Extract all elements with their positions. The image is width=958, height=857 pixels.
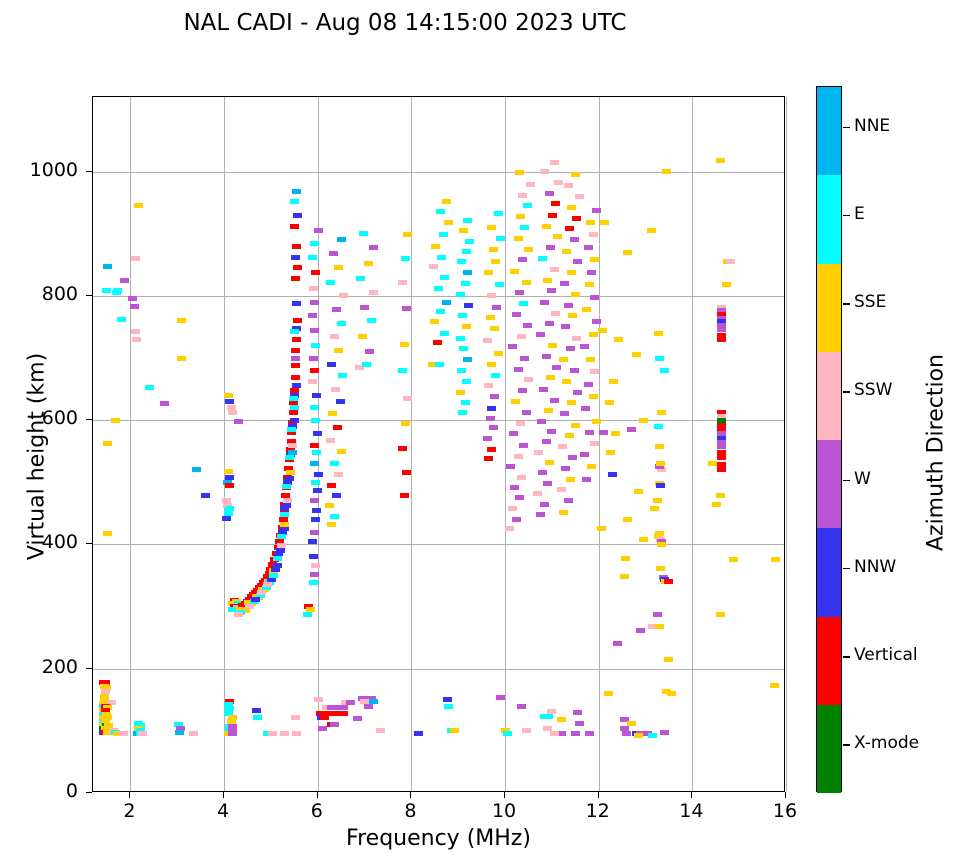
echo-point	[459, 346, 468, 351]
echo-point	[582, 477, 591, 482]
echo-point	[512, 312, 521, 317]
echo-point	[496, 695, 505, 700]
echo-point	[570, 368, 579, 373]
echo-point	[726, 259, 735, 264]
echo-point	[546, 375, 555, 380]
echo-point	[276, 548, 285, 553]
echo-point	[273, 563, 282, 568]
echo-point	[282, 503, 291, 508]
echo-point	[520, 356, 529, 361]
echo-point	[655, 444, 664, 449]
echo-point	[558, 444, 567, 449]
echo-point	[224, 393, 233, 398]
echo-point	[462, 324, 471, 329]
x-axis-tick	[223, 792, 224, 798]
colorbar-label-ssw: SSW	[854, 380, 892, 400]
x-axis-tick-label: 8	[380, 800, 440, 822]
x-axis-tick-label: 6	[287, 800, 347, 822]
echo-point	[291, 715, 300, 720]
echo-point	[318, 726, 327, 731]
echo-point	[346, 700, 355, 705]
echo-point	[228, 731, 237, 736]
echo-point	[544, 408, 553, 413]
echo-point	[312, 450, 321, 455]
echo-point	[634, 489, 643, 494]
echo-point	[440, 275, 449, 280]
echo-point	[309, 580, 318, 585]
echo-point	[655, 531, 664, 536]
echo-point	[224, 469, 233, 474]
echo-point	[510, 485, 519, 490]
echo-point	[308, 379, 317, 384]
echo-point	[524, 247, 533, 252]
echo-point	[487, 406, 496, 411]
echo-point	[548, 343, 557, 348]
echo-point	[551, 201, 560, 206]
colorbar-segment-e[interactable]	[817, 175, 841, 263]
echo-point	[496, 236, 505, 241]
echo-point	[327, 483, 336, 488]
echo-point	[605, 400, 614, 405]
x-axis-tick	[504, 792, 505, 798]
colorbar-segment-ssw[interactable]	[817, 352, 841, 440]
echo-point	[575, 194, 584, 199]
echo-point	[289, 410, 298, 415]
echo-point	[518, 388, 527, 393]
echo-point	[586, 220, 595, 225]
y-axis-tick	[86, 668, 92, 669]
echo-point	[518, 193, 527, 198]
echo-point	[608, 472, 617, 477]
echo-point	[483, 338, 492, 343]
echo-point	[514, 236, 523, 241]
echo-point	[489, 247, 498, 252]
echo-point	[536, 512, 545, 517]
echo-point	[729, 557, 738, 562]
echo-point	[280, 731, 289, 736]
echo-point	[310, 530, 319, 535]
echo-point	[508, 506, 517, 511]
echo-point	[442, 199, 451, 204]
echo-point	[457, 259, 466, 264]
echo-point	[522, 280, 531, 285]
echo-point	[514, 454, 523, 459]
echo-point	[590, 295, 599, 300]
echo-point	[430, 319, 439, 324]
echo-point	[456, 292, 465, 297]
echo-point	[503, 731, 512, 736]
echo-point	[291, 276, 300, 281]
echo-point	[310, 300, 319, 305]
echo-point	[369, 290, 378, 295]
echo-point	[511, 399, 520, 404]
echo-point	[590, 369, 599, 374]
echo-point	[138, 731, 147, 736]
echo-point	[333, 425, 342, 430]
echo-point	[444, 704, 453, 709]
echo-point	[523, 203, 532, 208]
echo-point	[590, 257, 599, 262]
echo-point	[429, 264, 438, 269]
x-axis-tick-label: 4	[193, 800, 253, 822]
echo-point	[331, 387, 340, 392]
echo-point	[636, 628, 645, 633]
echo-point	[310, 443, 319, 448]
echo-point	[653, 498, 662, 503]
echo-point	[401, 421, 410, 426]
echo-point	[310, 405, 319, 410]
echo-point	[512, 517, 521, 522]
echo-point	[484, 270, 493, 275]
echo-point	[509, 431, 518, 436]
echo-point	[435, 362, 444, 367]
echo-point	[648, 733, 657, 738]
echo-point	[585, 731, 594, 736]
colorbar-segment-w[interactable]	[817, 440, 841, 528]
echo-point	[567, 205, 576, 210]
echo-point	[487, 447, 496, 452]
echo-point	[311, 517, 320, 522]
echo-point	[440, 331, 449, 336]
echo-point	[717, 327, 726, 332]
echo-point	[330, 514, 339, 519]
echo-point	[548, 213, 557, 218]
echo-point	[533, 491, 542, 496]
echo-point	[517, 475, 526, 480]
echo-point	[291, 348, 300, 353]
echo-point	[309, 286, 318, 291]
colorbar-label-w: W	[854, 469, 871, 489]
echo-point	[145, 385, 154, 390]
echo-point	[282, 484, 291, 489]
echo-point	[450, 728, 459, 733]
echo-point	[280, 526, 289, 531]
echo-point	[456, 390, 465, 395]
echo-point	[716, 612, 725, 617]
colorbar-segment-x-mode[interactable]	[817, 705, 841, 793]
echo-point	[572, 336, 581, 341]
echo-point	[519, 301, 528, 306]
echo-point	[461, 281, 470, 286]
echo-point	[311, 418, 320, 423]
ionogram-plot-area[interactable]	[92, 96, 785, 792]
y-axis-tick	[86, 419, 92, 420]
echo-point	[134, 203, 143, 208]
echo-point	[667, 691, 676, 696]
echo-point	[771, 557, 780, 562]
echo-point	[516, 421, 525, 426]
echo-point	[590, 441, 599, 446]
echo-point	[277, 543, 286, 548]
echo-point	[717, 455, 726, 460]
echo-point	[561, 324, 570, 329]
echo-point	[402, 306, 411, 311]
echo-point	[311, 563, 320, 568]
echo-point	[398, 446, 407, 451]
echo-point	[439, 232, 448, 237]
echo-point	[225, 483, 234, 488]
echo-point	[314, 228, 323, 233]
colorbar-title: Azimuth Direction	[924, 303, 949, 603]
echo-point	[550, 267, 559, 272]
echo-point	[437, 255, 446, 260]
echo-point	[290, 405, 299, 410]
echo-point	[433, 340, 442, 345]
echo-point	[506, 464, 515, 469]
colorbar-tick	[843, 744, 850, 746]
echo-point	[160, 401, 169, 406]
echo-point	[436, 209, 445, 214]
echo-point	[484, 383, 493, 388]
echo-point	[398, 368, 407, 373]
echo-point	[443, 697, 452, 702]
y-axis-tick	[86, 543, 92, 544]
echo-point	[286, 470, 295, 475]
echo-point	[337, 321, 346, 326]
echo-point	[356, 276, 365, 281]
colorbar-label-vertical: Vertical	[854, 645, 918, 665]
echo-point	[508, 344, 517, 349]
echo-point	[494, 211, 503, 216]
echo-point	[660, 368, 669, 373]
azimuth-colorbar[interactable]	[816, 86, 842, 792]
echo-point	[103, 531, 112, 536]
echo-point	[654, 331, 663, 336]
echo-point	[252, 708, 261, 713]
x-axis-tick	[691, 792, 692, 798]
echo-point	[103, 264, 112, 269]
echo-point	[461, 400, 470, 405]
echo-point	[524, 377, 533, 382]
echo-point	[457, 368, 466, 373]
echo-point	[487, 293, 496, 298]
echo-point	[516, 214, 525, 219]
echo-point	[567, 400, 576, 405]
colorbar-tick	[843, 656, 850, 658]
x-axis-tick	[129, 792, 130, 798]
echo-point	[657, 542, 666, 547]
echo-point	[339, 293, 348, 298]
echo-point	[326, 438, 335, 443]
echo-point	[543, 481, 552, 486]
echo-point	[550, 398, 559, 403]
echo-point	[398, 280, 407, 285]
echo-point	[464, 303, 473, 308]
echo-point	[656, 566, 665, 571]
echo-point	[325, 503, 334, 508]
echo-point	[330, 722, 339, 727]
echo-point	[606, 450, 615, 455]
echo-point	[538, 470, 547, 475]
echo-point	[770, 683, 779, 688]
echo-point	[292, 337, 301, 342]
echo-point	[334, 472, 343, 477]
echo-point	[542, 354, 551, 359]
echo-point	[311, 343, 320, 348]
echo-point	[564, 498, 573, 503]
echo-point	[515, 170, 524, 175]
echo-point	[557, 487, 566, 492]
echo-point	[613, 641, 622, 646]
colorbar-label-nne: NNE	[854, 116, 890, 136]
echo-point	[564, 183, 573, 188]
echo-point	[550, 731, 559, 736]
echo-point	[483, 436, 492, 441]
x-axis-tick	[410, 792, 411, 798]
echo-point	[293, 318, 302, 323]
echo-point	[291, 255, 300, 260]
echo-point	[332, 493, 341, 498]
echo-point	[444, 220, 453, 225]
echo-point	[647, 228, 656, 233]
echo-point	[308, 539, 317, 544]
echo-point	[177, 356, 186, 361]
echo-point	[442, 300, 451, 305]
x-axis-tick	[317, 792, 318, 798]
echo-point	[622, 731, 631, 736]
echo-point	[515, 290, 524, 295]
echo-point	[716, 493, 725, 498]
echo-point	[103, 441, 112, 446]
echo-point	[544, 714, 553, 719]
echo-point	[522, 410, 531, 415]
echo-point	[401, 256, 410, 261]
echo-point	[131, 329, 140, 334]
echo-point	[542, 224, 551, 229]
echo-point	[465, 239, 474, 244]
echo-point	[639, 537, 648, 542]
echo-point	[650, 506, 659, 511]
echo-point	[546, 245, 555, 250]
echo-point	[273, 556, 282, 561]
echo-point	[551, 311, 560, 316]
colorbar-tick	[843, 215, 850, 217]
echo-point	[291, 363, 300, 368]
echo-point	[310, 328, 319, 333]
echo-point	[320, 715, 329, 720]
echo-point	[269, 573, 278, 578]
echo-point	[540, 169, 549, 174]
echo-point	[621, 556, 630, 561]
echo-point	[463, 218, 472, 223]
echo-point	[314, 472, 323, 477]
echo-point	[403, 232, 412, 237]
echo-point	[130, 304, 139, 309]
echo-point	[575, 721, 584, 726]
echo-point	[580, 452, 589, 457]
echo-point	[655, 624, 664, 629]
echo-point	[486, 315, 495, 320]
echo-point	[540, 300, 549, 305]
y-axis-tick-label: 0	[8, 780, 78, 802]
echo-point	[623, 250, 632, 255]
echo-point	[567, 270, 576, 275]
colorbar-tick	[843, 391, 850, 393]
echo-point	[517, 704, 526, 709]
echo-point	[459, 228, 468, 233]
echo-point	[234, 419, 243, 424]
echo-point	[458, 410, 467, 415]
echo-point	[564, 303, 573, 308]
echo-point	[632, 352, 641, 357]
echo-point	[639, 418, 648, 423]
echo-point	[557, 717, 566, 722]
echo-point	[589, 394, 598, 399]
x-axis-tick-label: 16	[755, 800, 815, 822]
echo-point	[580, 344, 589, 349]
echo-point	[662, 169, 671, 174]
echo-point	[589, 232, 598, 237]
colorbar-segment-nne[interactable]	[817, 87, 841, 175]
colorbar-segment-vertical[interactable]	[817, 617, 841, 705]
echo-point	[463, 270, 472, 275]
echo-point	[620, 574, 629, 579]
echo-point	[462, 379, 471, 384]
echo-point	[367, 318, 376, 323]
colorbar-segment-nnw[interactable]	[817, 528, 841, 616]
echo-point	[251, 597, 260, 602]
echo-point	[328, 411, 337, 416]
echo-point	[330, 334, 339, 339]
echo-point	[519, 443, 528, 448]
echo-point	[568, 313, 577, 318]
echo-point	[523, 323, 532, 328]
echo-point	[285, 476, 294, 481]
echo-point	[293, 213, 302, 218]
echo-point	[462, 249, 471, 254]
x-axis-tick-label: 14	[661, 800, 721, 822]
echo-point	[257, 590, 266, 595]
echo-point	[517, 334, 526, 339]
echo-point	[598, 328, 607, 333]
echo-point	[245, 604, 254, 609]
echo-point	[491, 259, 500, 264]
echo-point	[560, 281, 569, 286]
echo-point	[487, 225, 496, 230]
echo-point	[534, 450, 543, 455]
echo-point	[609, 379, 618, 384]
echo-point	[536, 332, 545, 337]
echo-point	[364, 704, 373, 709]
echo-point	[542, 439, 551, 444]
echo-point	[553, 234, 562, 239]
echo-point	[490, 394, 499, 399]
echo-point	[587, 270, 596, 275]
echo-point	[526, 182, 535, 187]
echo-point	[327, 362, 336, 367]
echo-point	[287, 427, 296, 432]
echo-point	[308, 255, 317, 260]
echo-point	[337, 449, 346, 454]
echo-point	[599, 430, 608, 435]
echo-point	[280, 512, 289, 517]
echo-point	[353, 716, 362, 721]
echo-point	[263, 582, 272, 587]
echo-point	[708, 461, 717, 466]
echo-point	[312, 393, 321, 398]
echo-point	[634, 733, 643, 738]
echo-point	[403, 396, 412, 401]
echo-point	[518, 257, 527, 262]
echo-point	[600, 220, 609, 225]
echo-point	[119, 731, 128, 736]
echo-point	[192, 467, 201, 472]
echo-point	[222, 516, 231, 521]
echo-point	[585, 430, 594, 435]
echo-point	[292, 301, 301, 306]
echo-point	[582, 307, 591, 312]
colorbar-segment-sse[interactable]	[817, 264, 841, 352]
